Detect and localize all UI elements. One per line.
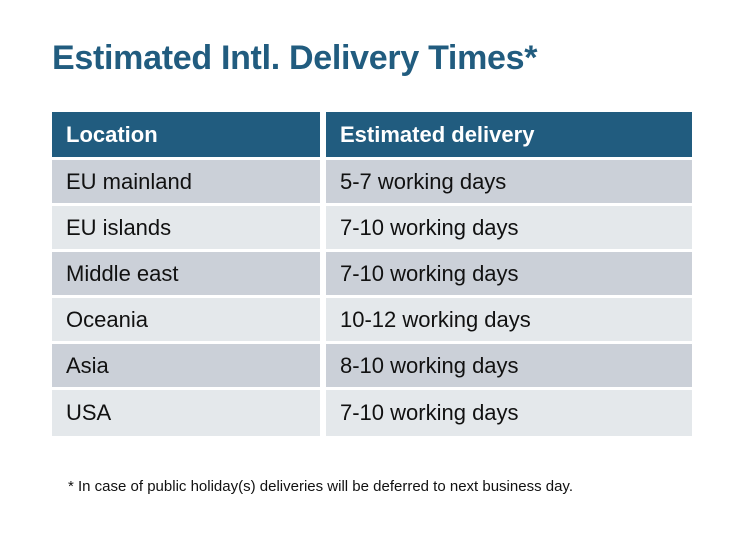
cell-estimated-delivery: 8-10 working days xyxy=(326,344,692,390)
page-title: Estimated Intl. Delivery Times* xyxy=(52,36,537,80)
cell-location: EU mainland xyxy=(52,160,320,206)
table-row: USA 7-10 working days xyxy=(52,390,692,436)
table-row: EU mainland 5-7 working days xyxy=(52,160,692,206)
cell-location: Oceania xyxy=(52,298,320,344)
cell-estimated-delivery: 10-12 working days xyxy=(326,298,692,344)
table-head: Location Estimated delivery xyxy=(52,112,692,160)
table-row: Oceania 10-12 working days xyxy=(52,298,692,344)
table-body: EU mainland 5-7 working days EU islands … xyxy=(52,160,692,436)
cell-estimated-delivery: 5-7 working days xyxy=(326,160,692,206)
table-row: Asia 8-10 working days xyxy=(52,344,692,390)
table-row: EU islands 7-10 working days xyxy=(52,206,692,252)
cell-estimated-delivery: 7-10 working days xyxy=(326,206,692,252)
delivery-times-table: Location Estimated delivery EU mainland … xyxy=(52,112,692,436)
cell-location: EU islands xyxy=(52,206,320,252)
cell-estimated-delivery: 7-10 working days xyxy=(326,390,692,436)
cell-location: Asia xyxy=(52,344,320,390)
table-header-row: Location Estimated delivery xyxy=(52,112,692,160)
column-header-estimated-delivery: Estimated delivery xyxy=(326,112,692,160)
cell-location: USA xyxy=(52,390,320,436)
table-footnote: * In case of public holiday(s) deliverie… xyxy=(68,478,573,495)
cell-location: Middle east xyxy=(52,252,320,298)
cell-estimated-delivery: 7-10 working days xyxy=(326,252,692,298)
table-row: Middle east 7-10 working days xyxy=(52,252,692,298)
column-header-location: Location xyxy=(52,112,320,160)
